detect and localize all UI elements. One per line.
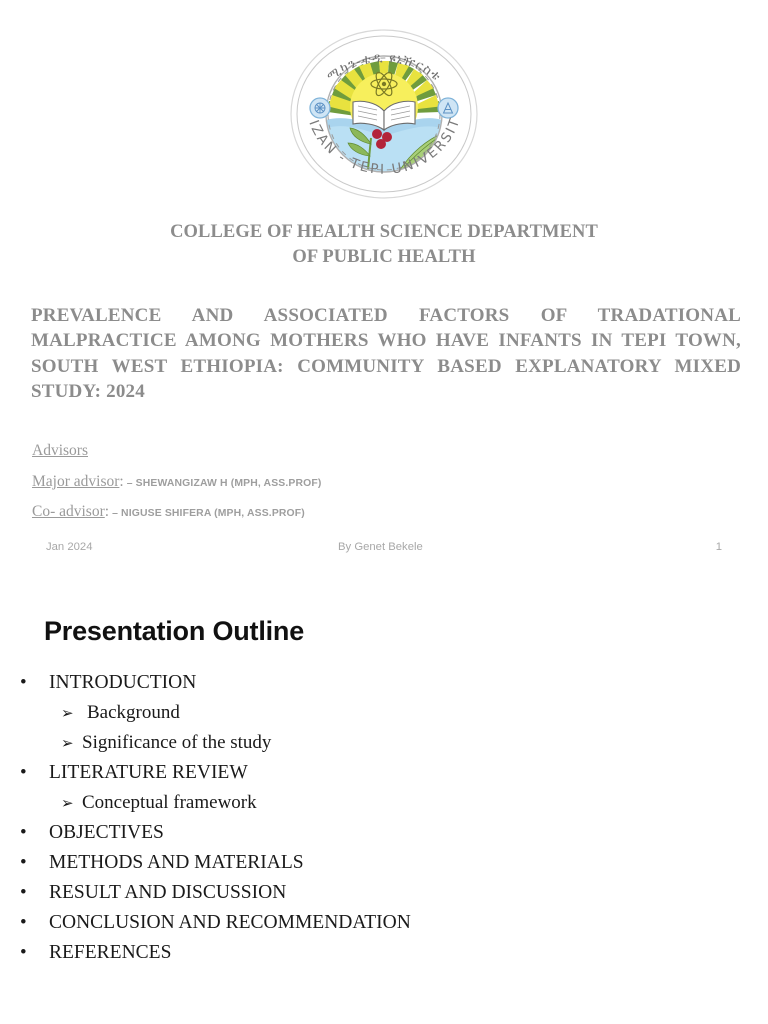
slide-footer: Jan 2024 By Genet Bekele 1 bbox=[46, 541, 722, 557]
major-advisor-role-label: Major advisor bbox=[32, 473, 119, 490]
advisors-section: Advisors Major advisor:– SHEWANGIZAW H (… bbox=[32, 442, 632, 533]
outline-subitem: Significance of the study bbox=[0, 728, 768, 758]
advisors-heading: Advisors bbox=[32, 442, 88, 460]
footer-page-number: 1 bbox=[716, 541, 722, 553]
advisor-row-co: Co- advisor:– NIGUSE SHIFERA (MPH, ASS.P… bbox=[32, 503, 632, 521]
footer-author: By Genet Bekele bbox=[338, 541, 423, 553]
outline-subitem: Conceptual framework bbox=[0, 788, 768, 818]
outline-item: INTRODUCTION bbox=[0, 668, 768, 698]
major-advisor-name: – SHEWANGIZAW H (MPH, ASS.PROF) bbox=[124, 478, 322, 489]
outline-item: CONCLUSION AND RECOMMENDATION bbox=[0, 908, 768, 938]
co-advisor-role-label: Co- advisor bbox=[32, 503, 105, 520]
outline-item: LITERATURE REVIEW bbox=[0, 758, 768, 788]
outline-item: METHODS AND MATERIALS bbox=[0, 848, 768, 878]
department-heading-line1: COLLEGE OF HEALTH SCIENCE DEPARTMENT bbox=[170, 222, 598, 242]
outline-item: REFERENCES bbox=[0, 938, 768, 968]
mizan-tepi-university-seal-icon: ሚካን-ቴዲ ዩኒዥርስቴ MIZAN - TEPI UNIVERSITY bbox=[288, 28, 480, 200]
department-heading-line2: OF PUBLIC HEALTH bbox=[28, 245, 740, 270]
university-logo-container: ሚካን-ቴዲ ዩኒዥርስቴ MIZAN - TEPI UNIVERSITY bbox=[0, 28, 768, 205]
co-advisor-name: – NIGUSE SHIFERA (MPH, ASS.PROF) bbox=[109, 508, 305, 519]
footer-date: Jan 2024 bbox=[46, 541, 92, 553]
department-heading: COLLEGE OF HEALTH SCIENCE DEPARTMENT OF … bbox=[28, 220, 740, 270]
title-slide: ሚካን-ቴዲ ዩኒዥርስቴ MIZAN - TEPI UNIVERSITY CO… bbox=[0, 0, 768, 570]
presentation-outline-list: INTRODUCTION Background Significance of … bbox=[0, 668, 768, 968]
outline-item: OBJECTIVES bbox=[0, 818, 768, 848]
outline-slide-title: Presentation Outline bbox=[44, 616, 304, 647]
outline-item: RESULT AND DISCUSSION bbox=[0, 878, 768, 908]
advisor-row-major: Major advisor:– SHEWANGIZAW H (MPH, ASS.… bbox=[32, 473, 632, 491]
presentation-main-title: PREVALENCE AND ASSOCIATED FACTORS OF TRA… bbox=[31, 303, 741, 404]
outline-slide: Presentation Outline INTRODUCTION Backgr… bbox=[0, 570, 768, 1024]
outline-subitem: Background bbox=[0, 698, 768, 728]
